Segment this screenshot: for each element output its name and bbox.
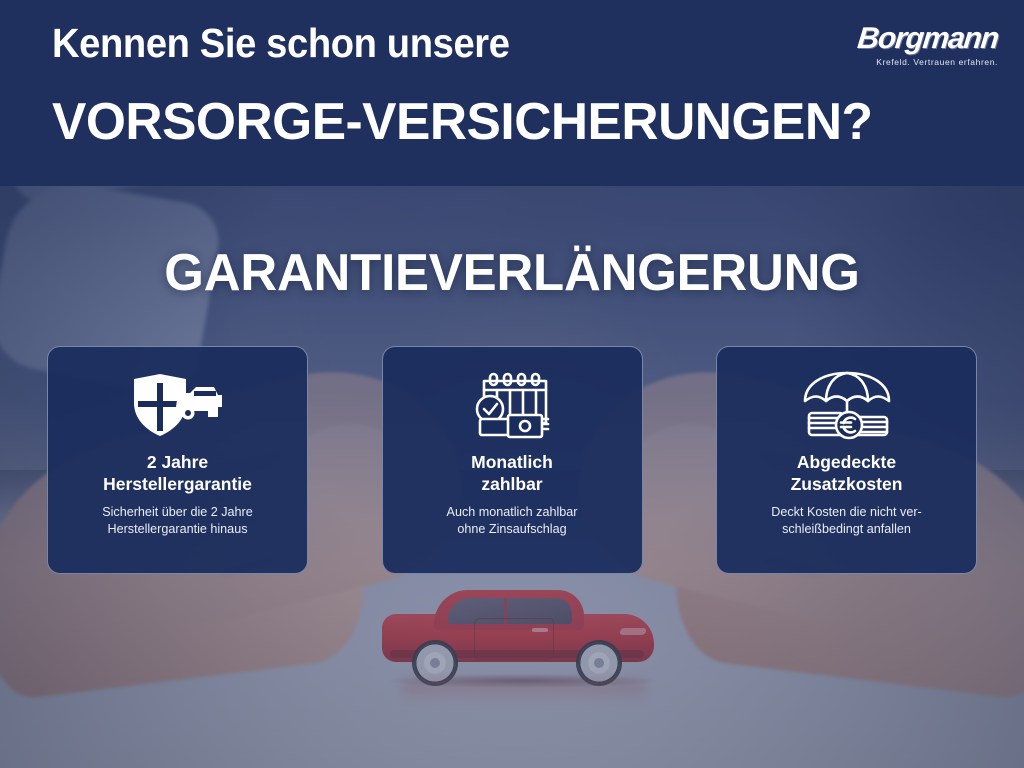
brand-logo[interactable]: Borgmann Krefeld. Vertrauen erfahren. xyxy=(828,24,998,67)
promo-banner: Kennen Sie schon unsere VORSORGE-VERSICH… xyxy=(0,0,1024,768)
header-band: Kennen Sie schon unsere VORSORGE-VERSICH… xyxy=(0,0,1024,186)
feature-card-monthly-payment[interactable]: Monatlich zahlbar Auch monatlich zahlbar… xyxy=(382,346,643,574)
shield-car-icon xyxy=(130,371,226,441)
brand-tagline: Krefeld. Vertrauen erfahren. xyxy=(828,58,998,67)
feature-card-warranty[interactable]: 2 Jahre Herstellergarantie Sicherheit üb… xyxy=(47,346,308,574)
feature-card-title: Monatlich zahlbar xyxy=(471,451,553,496)
brand-name: Borgmann xyxy=(826,24,999,54)
calendar-money-check-icon xyxy=(466,371,558,441)
feature-card-list: 2 Jahre Herstellergarantie Sicherheit üb… xyxy=(47,346,977,574)
feature-card-title: Abgedeckte Zusatzkosten xyxy=(791,451,903,496)
feature-card-subtitle: Deckt Kosten die nicht ver- schleißbedin… xyxy=(771,504,922,538)
header-line-1: Kennen Sie schon unsere xyxy=(52,20,510,67)
feature-card-subtitle: Sicherheit über die 2 Jahre Herstellerga… xyxy=(102,504,253,538)
umbrella-euro-coins-icon xyxy=(799,371,895,441)
feature-card-subtitle: Auch monatlich zahlbar ohne Zinsaufschla… xyxy=(447,504,578,538)
page-title: GARANTIEVERLÄNGERUNG xyxy=(10,243,1014,303)
feature-card-title: 2 Jahre Herstellergarantie xyxy=(103,451,252,496)
header-line-2: VORSORGE-VERSICHERUNGEN? xyxy=(52,92,872,152)
feature-card-extra-costs[interactable]: Abgedeckte Zusatzkosten Deckt Kosten die… xyxy=(716,346,977,574)
